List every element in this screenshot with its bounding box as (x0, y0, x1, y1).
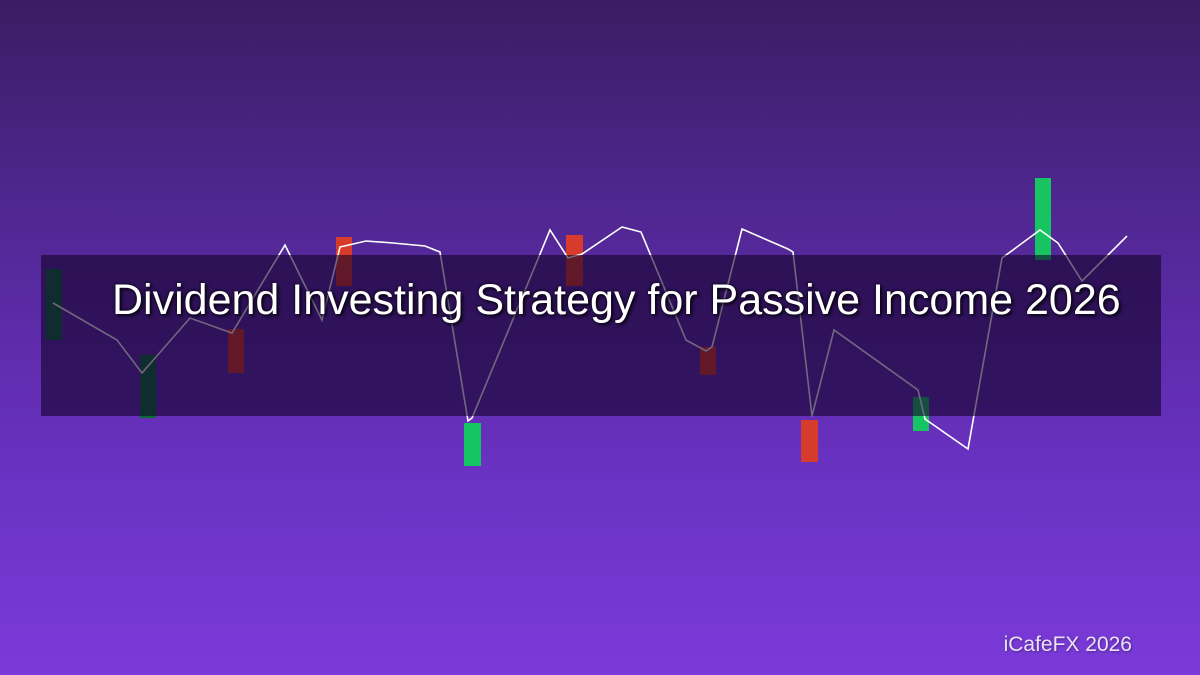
candle-5 (464, 423, 481, 466)
page-title: Dividend Investing Strategy for Passive … (112, 276, 1092, 324)
candle-8 (801, 420, 818, 462)
candle-10 (1035, 178, 1051, 260)
watermark-label: iCafeFX 2026 (1004, 633, 1132, 657)
thumbnail-canvas: Dividend Investing Strategy for Passive … (0, 0, 1200, 675)
